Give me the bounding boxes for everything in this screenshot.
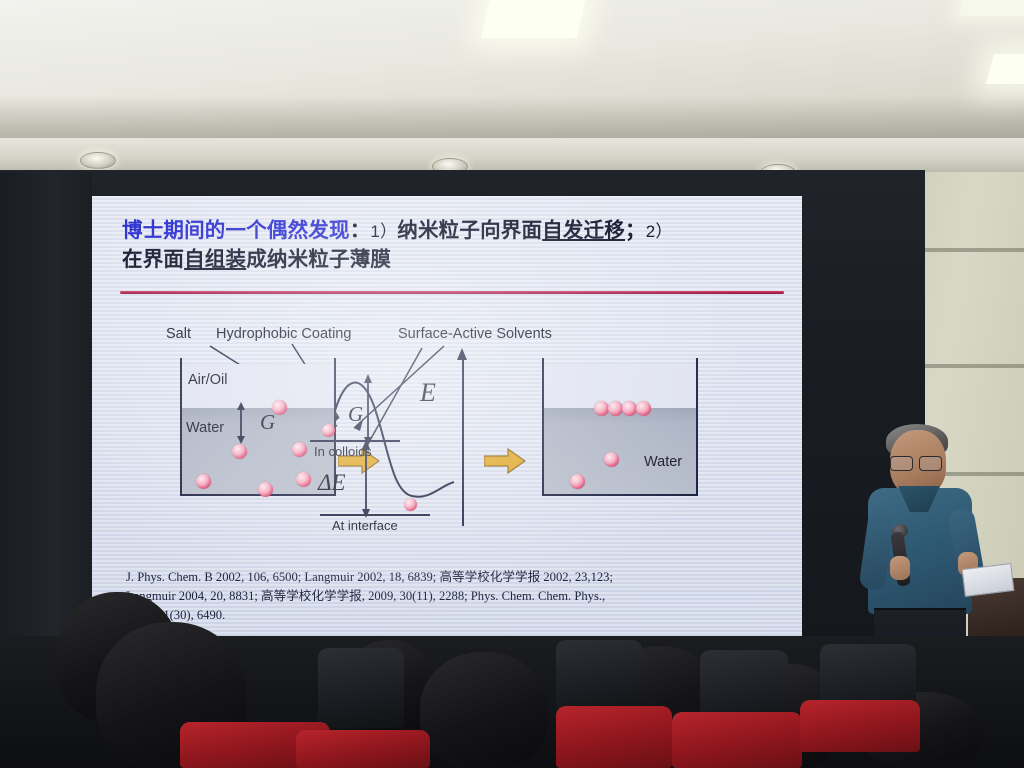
ceiling-panel-light <box>481 0 587 38</box>
nanoparticle-in-colloids <box>322 424 335 437</box>
slide-title-line2-a: 在界面 <box>122 248 184 271</box>
slide-title-item1-a: 纳米粒子向界面 <box>397 219 542 242</box>
nanoparticle <box>272 400 287 415</box>
ceiling-soffit <box>0 138 1024 174</box>
eyeglasses-icon <box>890 456 942 469</box>
nanoparticle-at-interface <box>404 498 417 511</box>
energy-delta-symbol: ΔE <box>318 470 346 496</box>
energy-axis-label: E <box>420 378 436 408</box>
right-beaker <box>542 364 698 496</box>
slide-title-line2-underlined: 自组装 <box>184 248 246 271</box>
eyeglass-lens <box>890 456 913 471</box>
nanoparticle-interface <box>636 401 651 416</box>
nanoparticle-interface <box>622 401 637 416</box>
callout-label-hydrophobic-coating: Hydrophobic Coating <box>216 326 351 342</box>
left-beaker-G-arrow <box>232 402 252 444</box>
slide-title-blue: 博士期间的一个偶然发现 <box>122 219 350 242</box>
slide-title-semicolon: ； <box>625 219 646 242</box>
reference-line: 2009, 11(30), 6490. <box>126 606 776 625</box>
nanoparticle-bulk <box>604 452 619 467</box>
nanoparticle <box>196 474 211 489</box>
right-beaker-water-layer <box>544 408 696 494</box>
auditorium-seat <box>800 700 920 752</box>
references-block: J. Phys. Chem. B 2002, 106, 6500; Langmu… <box>126 568 776 625</box>
left-beaker-top-phase-label: Air/Oil <box>188 372 227 388</box>
callout-label-salt: Salt <box>166 326 191 342</box>
nanoparticle <box>292 442 307 457</box>
left-dark-wall <box>0 172 92 642</box>
slide-title-item2-num: 2） <box>646 222 673 241</box>
left-beaker-energy-symbol: G <box>260 410 275 435</box>
nanoparticle-bulk <box>570 474 585 489</box>
slide-title-line2-b: 成纳米粒子薄膜 <box>246 248 391 271</box>
right-beaker-phase-label: Water <box>644 454 682 470</box>
nanoparticle-interface <box>594 401 609 416</box>
reference-line: Langmuir 2004, 20, 8831; 高等学校化学学报, 2009,… <box>126 587 776 606</box>
audience-head <box>420 652 548 768</box>
slide-title-item1-underlined: 自发迁移 <box>542 219 625 242</box>
barrier-G-arrow <box>360 374 378 446</box>
ceiling-panel-light <box>959 0 1024 16</box>
title-divider-rule <box>120 291 784 294</box>
eyeglass-lens <box>919 456 942 471</box>
lecture-hall-photo: 博士期间的一个偶然发现：1）纳米粒子向界面自发迁移；2） 在界面自组装成纳米粒子… <box>0 0 1024 768</box>
speaker <box>862 424 1002 668</box>
slide-title-item1-num: 1） <box>370 222 397 241</box>
right-beaker-air-layer <box>544 364 696 408</box>
callout-label-surface-active-solvents: Surface-Active Solvents <box>398 326 552 342</box>
nanoparticle <box>258 482 273 497</box>
energy-level-in-colloids <box>310 440 400 442</box>
auditorium-seat <box>296 730 430 768</box>
projected-slide: 博士期间的一个偶然发现：1）纳米粒子向界面自发迁移；2） 在界面自组装成纳米粒子… <box>92 196 802 662</box>
slide-title-colon: ： <box>350 219 371 242</box>
speaker-hand-holding-mic <box>890 556 910 580</box>
transition-arrow <box>484 448 526 474</box>
auditorium-seat <box>672 712 802 768</box>
slide-title: 博士期间的一个偶然发现：1）纳米粒子向界面自发迁移；2） 在界面自组装成纳米粒子… <box>122 216 782 274</box>
energy-axis <box>462 356 464 526</box>
left-beaker-bottom-phase-label: Water <box>186 420 224 436</box>
reference-line: J. Phys. Chem. B 2002, 106, 6500; Langmu… <box>126 568 776 587</box>
nanoparticle <box>296 472 311 487</box>
auditorium-seat <box>556 640 642 716</box>
delta-E-arrow <box>358 440 376 518</box>
downlight-icon <box>80 152 116 169</box>
nanoparticle-interface <box>608 401 623 416</box>
level-label-at-interface: At interface <box>332 518 398 533</box>
energy-axis-arrowhead <box>455 348 471 362</box>
nanoparticle <box>232 444 247 459</box>
auditorium-seat <box>556 706 672 768</box>
auditorium-seat <box>318 648 404 728</box>
